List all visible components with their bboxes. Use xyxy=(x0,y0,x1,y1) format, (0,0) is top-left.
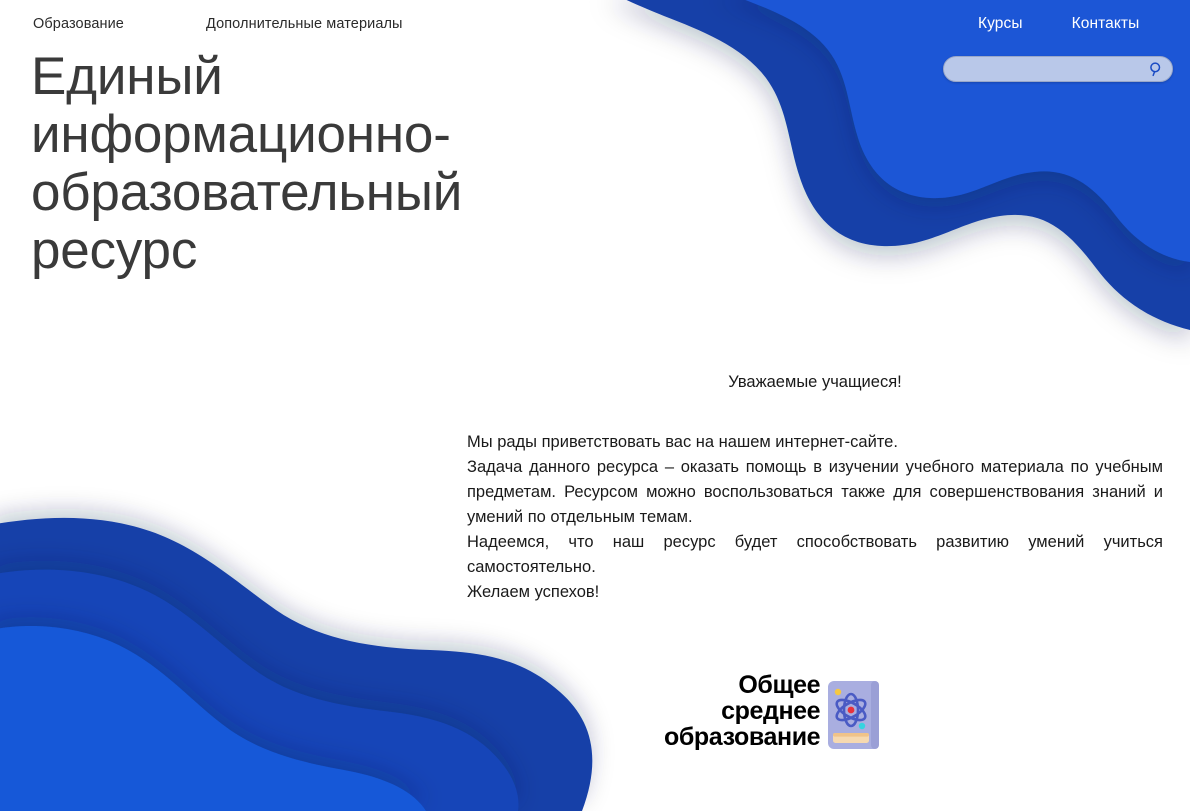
brand-logo-text: Общее среднее образование xyxy=(664,672,820,750)
wave-top-bright xyxy=(706,0,1190,262)
paragraph-line-4: Желаем успехов! xyxy=(467,580,1163,605)
search-box[interactable] xyxy=(943,56,1173,82)
brand-logo-line-1: Общее xyxy=(664,672,820,698)
nav-item-kontakty[interactable]: Контакты xyxy=(1072,14,1140,34)
paragraph-line-1: Мы рады приветствовать вас на нашем инте… xyxy=(467,430,1163,455)
paragraph-line-2: Задача данного ресурса – оказать помощь … xyxy=(467,455,1163,530)
main-content: Уважаемые учащиеся! Мы рады приветствова… xyxy=(467,370,1163,605)
brand-logo-line-3: образование xyxy=(664,724,820,750)
wave-top-dark xyxy=(608,0,1190,330)
welcome-paragraph: Мы рады приветствовать вас на нашем инте… xyxy=(467,430,1163,605)
brand-logo[interactable]: Общее среднее образование xyxy=(664,672,880,750)
wave-bottom-mid xyxy=(0,570,518,811)
primary-nav-right: Курсы Контакты xyxy=(978,14,1139,34)
brand-logo-line-2: среднее xyxy=(664,698,820,724)
book-atom-icon xyxy=(827,680,880,750)
primary-nav-left: Образование Дополнительные материалы xyxy=(33,15,403,33)
greeting-heading: Уважаемые учащиеся! xyxy=(467,370,1163,394)
search-input[interactable] xyxy=(943,56,1173,82)
page-root: Образование Дополнительные материалы Кур… xyxy=(0,0,1190,811)
page-title: Единый информационно-образовательный рес… xyxy=(31,48,591,280)
paragraph-line-3: Надеемся, что наш ресурс будет способств… xyxy=(467,530,1163,580)
nav-item-dopolnitelnye-materialy[interactable]: Дополнительные материалы xyxy=(206,15,403,33)
wave-bottom-bright xyxy=(0,626,426,811)
nav-item-obrazovanie[interactable]: Образование xyxy=(33,15,124,33)
nav-item-kursy[interactable]: Курсы xyxy=(978,14,1023,34)
